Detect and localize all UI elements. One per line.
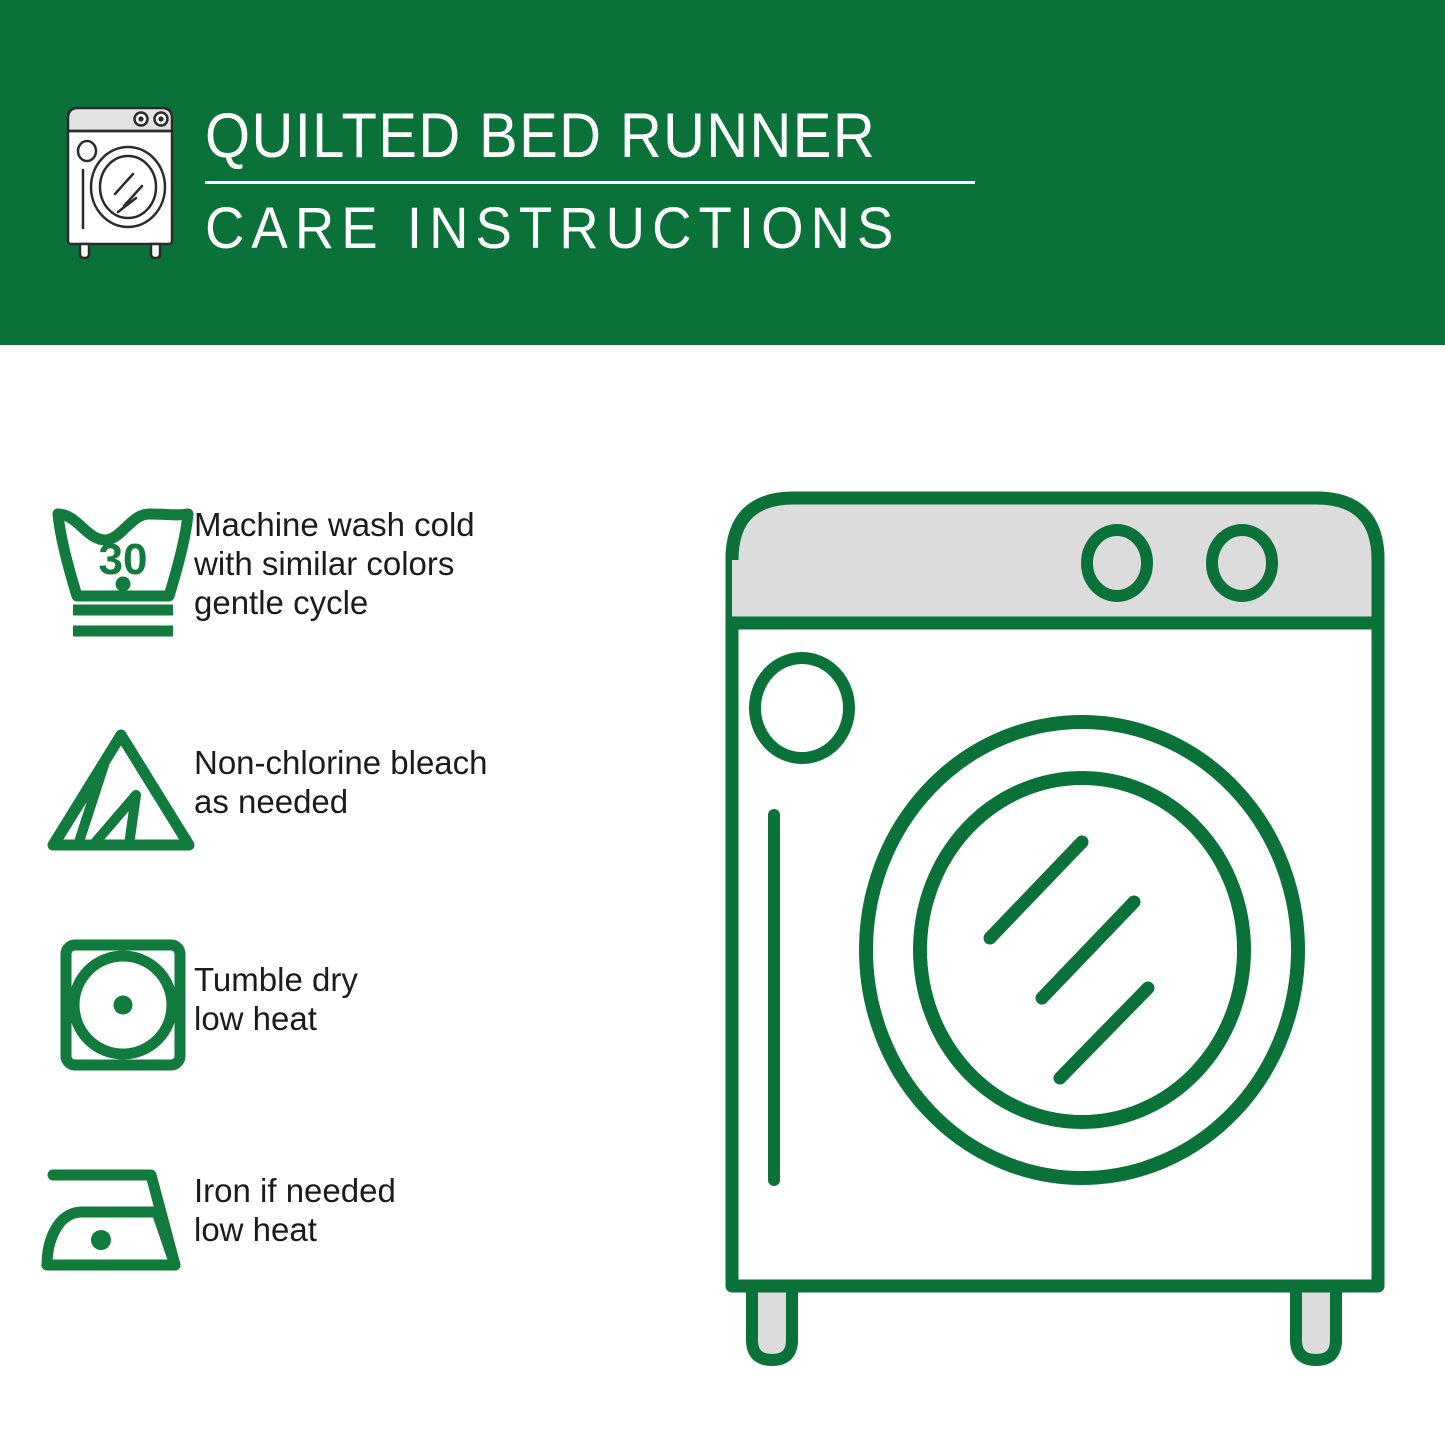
iron-low-heat-symbol	[0, 1145, 180, 1295]
care-row: Tumble dry low heat	[0, 930, 660, 1080]
care-line: low heat	[194, 999, 358, 1038]
non-chlorine-bleach-symbol	[0, 715, 180, 865]
care-line: Machine wash cold	[194, 505, 475, 544]
care-row-label: Machine wash cold with similar colors ge…	[180, 495, 475, 622]
care-instructions-page: QUILTED BED RUNNER CARE INSTRUCTIONS	[0, 0, 1445, 1445]
page-title: QUILTED BED RUNNER	[205, 100, 941, 172]
care-line: low heat	[194, 1210, 396, 1249]
care-line: gentle cycle	[194, 583, 475, 622]
care-instruction-list: 30 Machine wash cold with similar colors…	[0, 345, 660, 1445]
care-line: Tumble dry	[194, 960, 358, 999]
care-row-label: Tumble dry low heat	[180, 930, 358, 1038]
care-row: 30 Machine wash cold with similar colors…	[0, 495, 660, 645]
care-line: Iron if needed	[194, 1171, 396, 1210]
care-row-label: Iron if needed low heat	[180, 1145, 396, 1249]
care-line: Non-chlorine bleach	[194, 743, 488, 782]
care-line: as needed	[194, 782, 488, 821]
care-row: Non-chlorine bleach as needed	[0, 715, 660, 865]
machine-wash-cold-gentle-symbol: 30	[0, 495, 180, 645]
washing-machine-icon	[62, 100, 190, 260]
washer-knob	[1212, 530, 1272, 596]
title-divider	[205, 181, 975, 184]
page-subtitle: CARE INSTRUCTIONS	[205, 196, 957, 262]
care-row-label: Non-chlorine bleach as needed	[180, 715, 488, 821]
care-row: Iron if needed low heat	[0, 1145, 660, 1295]
washer-leg	[752, 1282, 792, 1360]
washer-knob	[1087, 530, 1147, 596]
detergent-indicator	[755, 658, 849, 758]
header-banner: QUILTED BED RUNNER CARE INSTRUCTIONS	[0, 0, 1445, 345]
tumble-dry-low-symbol	[0, 930, 180, 1080]
washing-machine-illustration	[690, 460, 1420, 1390]
washer-leg	[1296, 1282, 1336, 1360]
care-line: with similar colors	[194, 544, 475, 583]
header-text-block: QUILTED BED RUNNER CARE INSTRUCTIONS	[205, 100, 1005, 262]
